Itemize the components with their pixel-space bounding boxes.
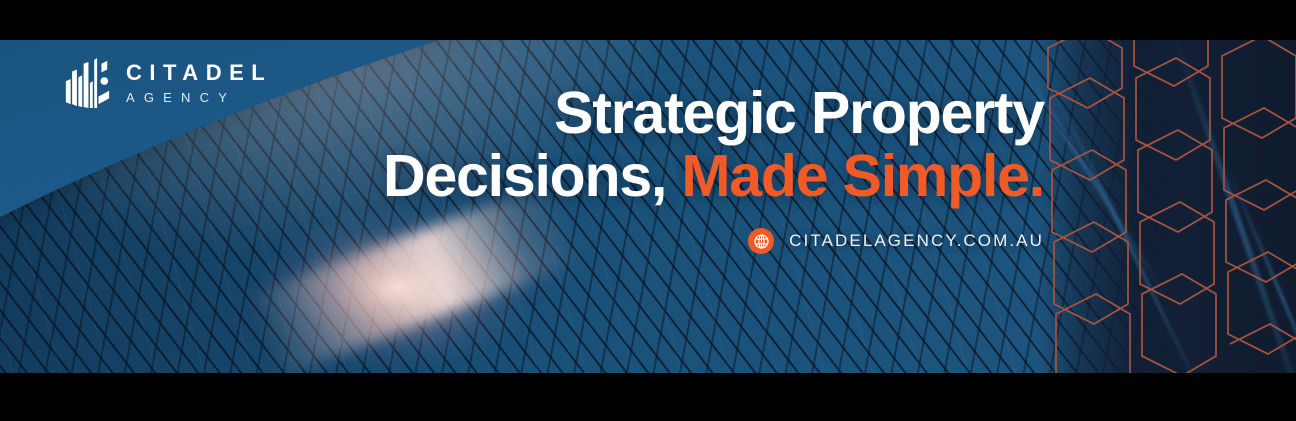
brand-name: CITADEL — [126, 62, 272, 84]
website-url-row[interactable]: CITADELAGENCY.COM.AU — [748, 228, 1044, 254]
brand-sub-name: AGENCY — [126, 91, 272, 104]
headline: Strategic Property Decisions, Made Simpl… — [383, 82, 1044, 207]
brand-wordmark: CITADEL AGENCY — [126, 62, 272, 104]
headline-line-2-white: Decisions, — [383, 143, 681, 209]
banner-content: CITADEL AGENCY Strategic Property Decisi… — [0, 0, 1296, 421]
hero-banner: CITADEL AGENCY Strategic Property Decisi… — [0, 0, 1296, 421]
brand-logo-lockup[interactable]: CITADEL AGENCY — [62, 58, 272, 108]
letterbox-bar-top — [0, 0, 1296, 40]
website-url[interactable]: CITADELAGENCY.COM.AU — [789, 231, 1044, 251]
citadel-skyline-mark-icon — [62, 58, 112, 108]
headline-line-2: Decisions, Made Simple. — [383, 145, 1044, 208]
letterbox-bar-bottom — [0, 373, 1296, 421]
headline-line-2-accent: Made Simple. — [681, 143, 1044, 209]
globe-icon — [748, 228, 774, 254]
headline-line-1: Strategic Property — [554, 80, 1044, 146]
